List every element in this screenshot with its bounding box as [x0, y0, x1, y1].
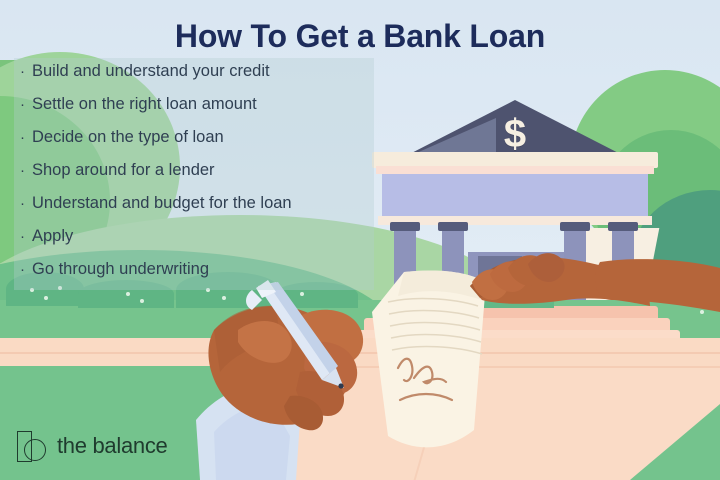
monogram-circle [24, 439, 46, 461]
step-item: ·Shop around for a lender [20, 161, 380, 194]
step-item: ·Understand and budget for the loan [20, 194, 380, 227]
step-label: Settle on the right loan amount [32, 95, 257, 114]
balance-b-monogram-icon [16, 430, 48, 462]
bullet-marker-icon: · [20, 262, 25, 277]
bullet-marker-icon: · [20, 97, 25, 112]
step-label: Understand and budget for the loan [32, 194, 292, 213]
bullet-marker-icon: · [20, 163, 25, 178]
step-label: Apply [32, 227, 73, 246]
brand-wordmark: the balance [57, 433, 167, 459]
loan-document [372, 270, 486, 447]
step-label: Go through underwriting [32, 260, 209, 279]
hand-signing [196, 306, 363, 480]
infographic-canvas: $ [0, 0, 720, 480]
step-item: ·Settle on the right loan amount [20, 95, 380, 128]
step-item: ·Decide on the type of loan [20, 128, 380, 161]
step-label: Shop around for a lender [32, 161, 215, 180]
page-title: How To Get a Bank Loan [0, 18, 720, 55]
step-label: Decide on the type of loan [32, 128, 224, 147]
step-item: ·Apply [20, 227, 380, 260]
bullet-marker-icon: · [20, 196, 25, 211]
step-item: ·Go through underwriting [20, 260, 380, 293]
brand-logo: the balance [16, 430, 167, 462]
bullet-marker-icon: · [20, 130, 25, 145]
bullet-marker-icon: · [20, 229, 25, 244]
step-item: ·Build and understand your credit [20, 62, 380, 95]
steps-list: ·Build and understand your credit·Settle… [20, 62, 380, 293]
bullet-marker-icon: · [20, 64, 25, 79]
step-label: Build and understand your credit [32, 62, 270, 81]
